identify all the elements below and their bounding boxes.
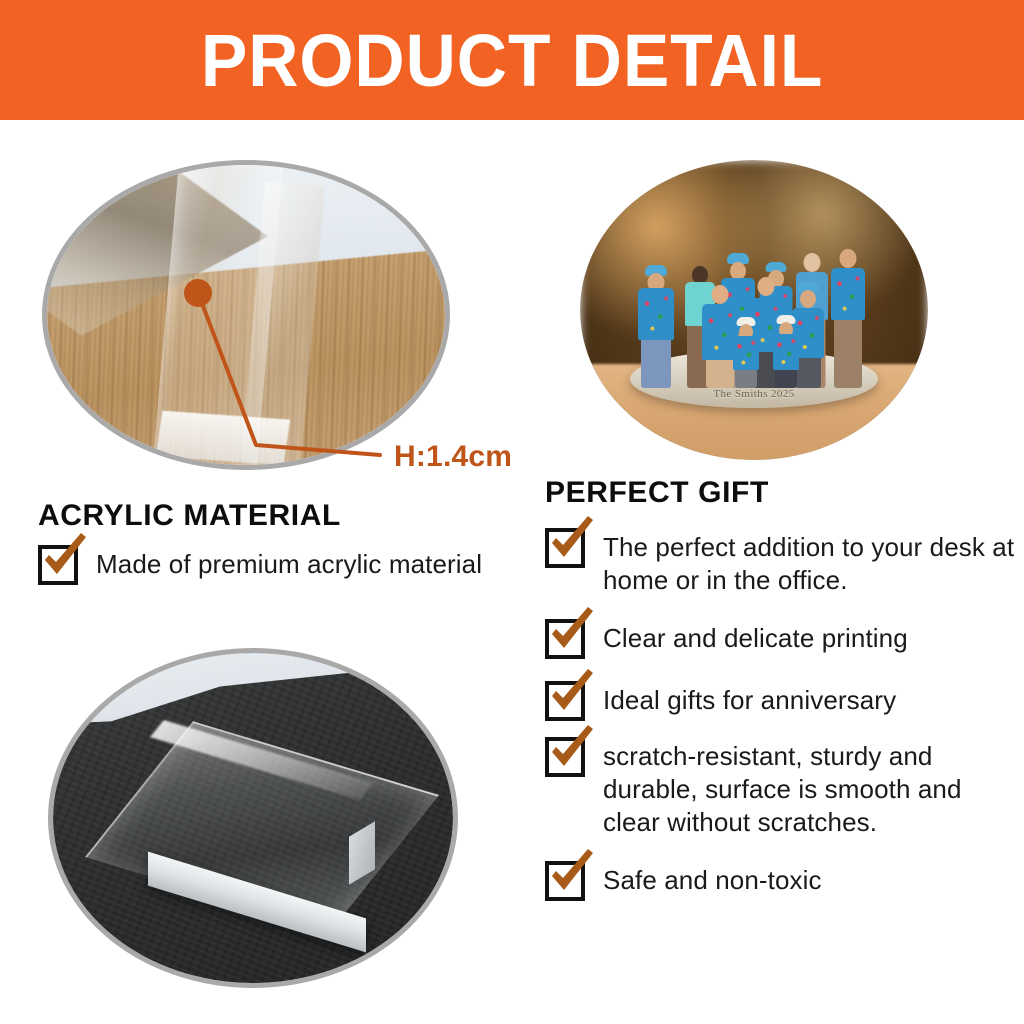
- checkbox-checked: [545, 737, 585, 777]
- list-item: The perfect addition to your desk at hom…: [545, 528, 1015, 597]
- check-icon: [544, 725, 598, 779]
- list-item-label: Clear and delicate printing: [585, 619, 908, 655]
- checkbox-checked: [38, 545, 78, 585]
- list-item: Safe and non-toxic: [545, 861, 1015, 901]
- page-title: PRODUCT DETAIL: [201, 24, 823, 98]
- family-figures-group: [580, 208, 928, 388]
- photo-acrylic-square-block: [48, 648, 458, 988]
- list-item-label: Ideal gifts for anniversary: [585, 681, 896, 717]
- acrylic-base-edge: [156, 411, 290, 465]
- photo-family-plaque-inner: The Smiths 2025: [580, 160, 928, 460]
- dimension-label-height: H:1.4cm: [394, 440, 512, 474]
- list-item: Ideal gifts for anniversary: [545, 681, 1015, 721]
- checkbox-checked: [545, 528, 585, 568]
- list-item: scratch-resistant, sturdy and durable, s…: [545, 737, 1015, 839]
- check-icon: [544, 669, 598, 723]
- section-heading-perfect-gift: PERFECT GIFT: [545, 476, 769, 510]
- section-heading-acrylic-material: ACRYLIC MATERIAL: [38, 499, 341, 533]
- feature-list-perfect-gift: The perfect addition to your desk at hom…: [545, 528, 1015, 901]
- list-item-label: Made of premium acrylic material: [78, 545, 482, 581]
- list-item-label: scratch-resistant, sturdy and durable, s…: [585, 737, 1015, 839]
- check-icon: [37, 533, 91, 587]
- feature-list-acrylic-material: Made of premium acrylic material: [38, 545, 518, 609]
- list-item: Made of premium acrylic material: [38, 545, 518, 585]
- check-icon: [544, 516, 598, 570]
- checkbox-checked: [545, 861, 585, 901]
- checkbox-checked: [545, 619, 585, 659]
- check-icon: [544, 849, 598, 903]
- photo-acrylic-block-edge: [42, 160, 450, 470]
- header-banner: PRODUCT DETAIL: [0, 0, 1024, 120]
- list-item-label: The perfect addition to your desk at hom…: [585, 528, 1015, 597]
- check-icon: [544, 607, 598, 661]
- plaque-engraved-text: The Smiths 2025: [713, 388, 794, 400]
- photo-family-acrylic-plaque: The Smiths 2025: [580, 160, 928, 460]
- list-item: Clear and delicate printing: [545, 619, 1015, 659]
- list-item-label: Safe and non-toxic: [585, 861, 822, 897]
- photo-acrylic-block-edge-inner: [47, 165, 445, 465]
- checkbox-checked: [545, 681, 585, 721]
- photo-acrylic-square-inner: [53, 653, 453, 983]
